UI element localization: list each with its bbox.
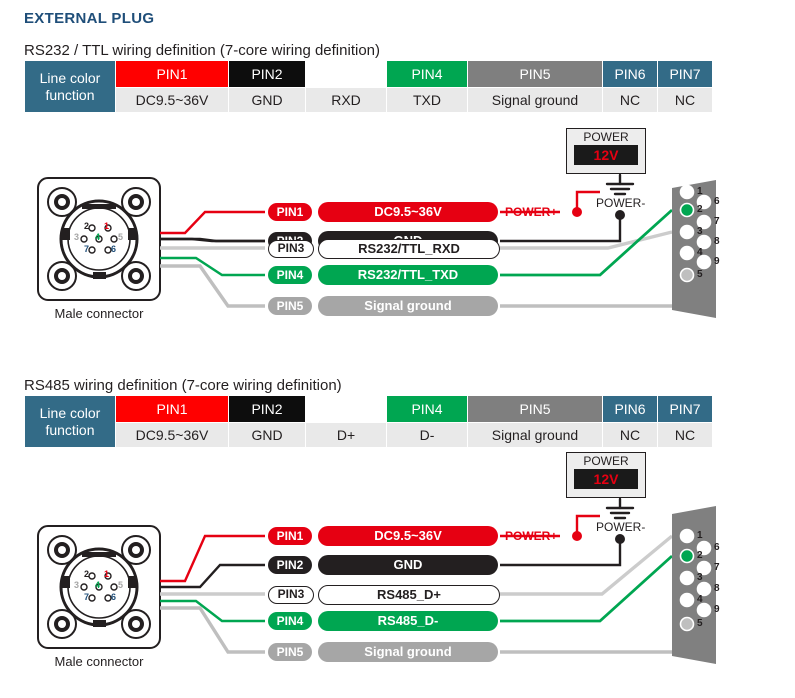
wire-pin1-label: DC9.5~36V: [318, 526, 498, 546]
connector-pin-7-number: 7: [84, 592, 89, 602]
pin2-value: GND: [229, 423, 306, 448]
earth-ground-icon: [607, 175, 633, 194]
power-supply-voltage: 12V: [574, 471, 638, 487]
db9-pin-6-label: 6: [714, 542, 720, 553]
db9-pin-9-label: 9: [714, 604, 720, 615]
wire-pin5-tag: PIN5: [268, 297, 312, 315]
wire-pin4-label: RS485_D-: [318, 611, 498, 631]
wire-pin5-label: Signal ground: [318, 296, 498, 316]
row-header-line-color-function: Line color function: [25, 61, 116, 113]
pin3-header: PIN3: [306, 61, 387, 88]
table-row-values: DC9.5~36V GND RXD TXD Signal ground NC N…: [25, 88, 713, 113]
wire-pin3-label: RS485_D+: [318, 585, 500, 605]
power-supply-display: 12V: [574, 145, 638, 165]
pin1-header: PIN1: [116, 61, 229, 88]
external-plug-page: EXTERNAL PLUG RS232 / TTL wiring definit…: [0, 0, 795, 698]
pin3-value: D+: [306, 423, 387, 448]
power-negative-label: POWER-: [596, 520, 645, 534]
connector-pin-5-number: 5: [118, 232, 123, 242]
db9-pin-1-label: 1: [697, 186, 703, 197]
db9-pin-7-label: 7: [714, 216, 720, 227]
pin1-value: DC9.5~36V: [116, 423, 229, 448]
wire-pin3-tag: PIN3: [268, 586, 314, 604]
wiring-diagram-rs485: 1 2 3 4 5 6 7 8 9 1 2 3 4 5 6 7 Male con…: [0, 458, 795, 673]
page-title: EXTERNAL PLUG: [24, 10, 154, 27]
wire-pin2-tag: PIN2: [268, 556, 312, 574]
db9-connector-graphic: [672, 180, 716, 318]
pin6-header: PIN6: [603, 396, 658, 423]
power-supply-box: POWER 12V: [566, 452, 646, 498]
db9-pin-2-label: 2: [697, 550, 703, 561]
pin5-header: PIN5: [468, 61, 603, 88]
wire-pin1-label: DC9.5~36V: [318, 202, 498, 222]
db9-pin-6-label: 6: [714, 196, 720, 207]
wire-pin1-tag: PIN1: [268, 203, 312, 221]
wire-pin4-tag: PIN4: [268, 612, 312, 630]
connector-pin-5-number: 5: [118, 580, 123, 590]
pin3-header: PIN3: [306, 396, 387, 423]
power-supply-title: POWER: [567, 130, 645, 144]
wire-pin5-label: Signal ground: [318, 642, 498, 662]
connector-pin-3-number: 3: [74, 232, 79, 242]
pin4-header: PIN4: [387, 396, 468, 423]
pin2-header: PIN2: [229, 61, 306, 88]
wire-pin3-label: RS232/TTL_RXD: [318, 239, 500, 259]
power-positive-label: POWER+: [505, 205, 557, 219]
pin7-header: PIN7: [658, 396, 713, 423]
connector-pin-6-number: 6: [111, 244, 116, 254]
wire-pin2-label: GND: [318, 555, 498, 575]
table-row-values: DC9.5~36V GND D+ D- Signal ground NC NC: [25, 423, 713, 448]
pin7-value: NC: [658, 423, 713, 448]
pin7-header: PIN7: [658, 61, 713, 88]
db9-pin-2-label: 2: [697, 204, 703, 215]
earth-ground-icon: [607, 499, 633, 518]
pin2-value: GND: [229, 88, 306, 113]
db9-pin-8-label: 8: [714, 236, 720, 247]
section-title-rs232: RS232 / TTL wiring definition (7-core wi…: [24, 42, 380, 59]
male-connector-caption: Male connector: [38, 654, 160, 669]
pin1-value: DC9.5~36V: [116, 88, 229, 113]
wire-pin5-tag: PIN5: [268, 643, 312, 661]
pin4-value: D-: [387, 423, 468, 448]
power-negative-label: POWER-: [596, 196, 645, 210]
pin5-header: PIN5: [468, 396, 603, 423]
db9-pin-4-label: 4: [697, 247, 703, 258]
wire-pin4-label: RS232/TTL_TXD: [318, 265, 498, 285]
connector-pin-4-number: 4: [95, 232, 100, 242]
db9-pin-8-label: 8: [714, 583, 720, 594]
pin5-value: Signal ground: [468, 88, 603, 113]
pin5-value: Signal ground: [468, 423, 603, 448]
pin-table-rs232: Line color function PIN1 PIN2 PIN3 PIN4 …: [24, 60, 713, 113]
power-supply-voltage: 12V: [574, 147, 638, 163]
pin4-value: TXD: [387, 88, 468, 113]
table-row-header: Line color function PIN1 PIN2 PIN3 PIN4 …: [25, 61, 713, 88]
db9-pin-3-label: 3: [697, 226, 703, 237]
male-connector-caption: Male connector: [38, 306, 160, 321]
db9-pin-5-label: 5: [697, 618, 703, 629]
connector-pin-1-number: 1: [104, 569, 109, 579]
connector-pin-2-number: 2: [84, 221, 89, 231]
connector-pin-4-number: 4: [95, 580, 100, 590]
connector-pin-2-number: 2: [84, 569, 89, 579]
pin7-value: NC: [658, 88, 713, 113]
pin-table-rs485: Line color function PIN1 PIN2 PIN3 PIN4 …: [24, 395, 713, 448]
connector-pin-1-number: 1: [104, 221, 109, 231]
db9-pin-1-label: 1: [697, 530, 703, 541]
table-row-header: Line color function PIN1 PIN2 PIN3 PIN4 …: [25, 396, 713, 423]
db9-pin-4-label: 4: [697, 594, 703, 605]
db9-pin-3-label: 3: [697, 572, 703, 583]
pin4-header: PIN4: [387, 61, 468, 88]
pin6-value: NC: [603, 423, 658, 448]
db9-connector-graphic: [672, 506, 716, 664]
db9-pin-7-label: 7: [714, 562, 720, 573]
power-supply-display: 12V: [574, 469, 638, 489]
pin1-header: PIN1: [116, 396, 229, 423]
power-positive-label: POWER+: [505, 529, 557, 543]
pin6-value: NC: [603, 88, 658, 113]
connector-pin-3-number: 3: [74, 580, 79, 590]
wire-pin1-tag: PIN1: [268, 527, 312, 545]
wiring-diagram-rs232: 1 2 3 4 5 6 7 8 9 1 2 3 4 5 6 7 Male con…: [0, 120, 795, 335]
power-supply-box: POWER 12V: [566, 128, 646, 174]
connector-pin-7-number: 7: [84, 244, 89, 254]
pin6-header: PIN6: [603, 61, 658, 88]
row-header-line-color-function: Line color function: [25, 396, 116, 448]
section-title-rs485: RS485 wiring definition (7-core wiring d…: [24, 377, 342, 394]
pin2-header: PIN2: [229, 396, 306, 423]
wire-pin4-tag: PIN4: [268, 266, 312, 284]
wire-pin3-tag: PIN3: [268, 240, 314, 258]
pin3-value: RXD: [306, 88, 387, 113]
connector-pin-6-number: 6: [111, 592, 116, 602]
db9-pin-5-label: 5: [697, 269, 703, 280]
power-supply-title: POWER: [567, 454, 645, 468]
db9-pin-9-label: 9: [714, 256, 720, 267]
